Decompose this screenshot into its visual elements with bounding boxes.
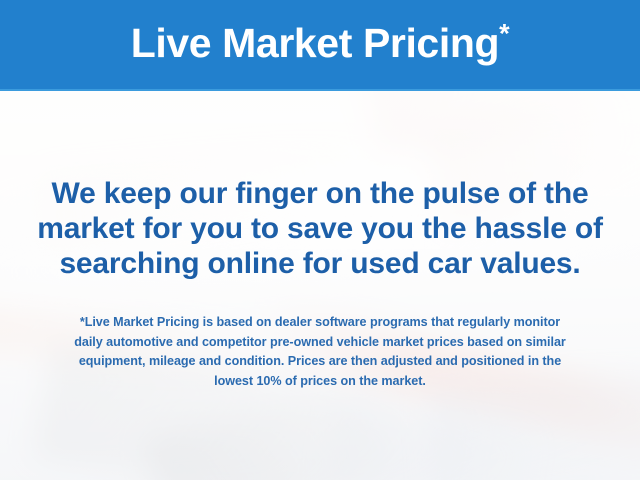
disclaimer-line-1: *Live Market Pricing is based on dealer … [30,313,610,333]
disclaimer-line-4: lowest 10% of prices on the market. [30,372,610,392]
disclaimer-line-3: equipment, mileage and condition. Prices… [30,352,610,372]
headline-line-1: We keep our finger on the pulse of the [26,176,614,211]
headline: We keep our finger on the pulse of the m… [26,176,614,281]
disclaimer-line-2: daily automotive and competitor pre-owne… [30,333,610,353]
headline-line-2: market for you to save you the hassle of [26,211,614,246]
header-banner: Live Market Pricing* [0,0,640,91]
page-title-asterisk: * [499,18,509,48]
page-title: Live Market Pricing* [131,23,509,67]
page-title-text: Live Market Pricing [131,20,499,66]
content-area: We keep our finger on the pulse of the m… [0,91,640,480]
disclaimer-text: *Live Market Pricing is based on dealer … [30,313,610,391]
headline-line-3: searching online for used car values. [26,246,614,281]
live-market-pricing-card: Live Market Pricing* We keep our finger … [0,0,640,480]
